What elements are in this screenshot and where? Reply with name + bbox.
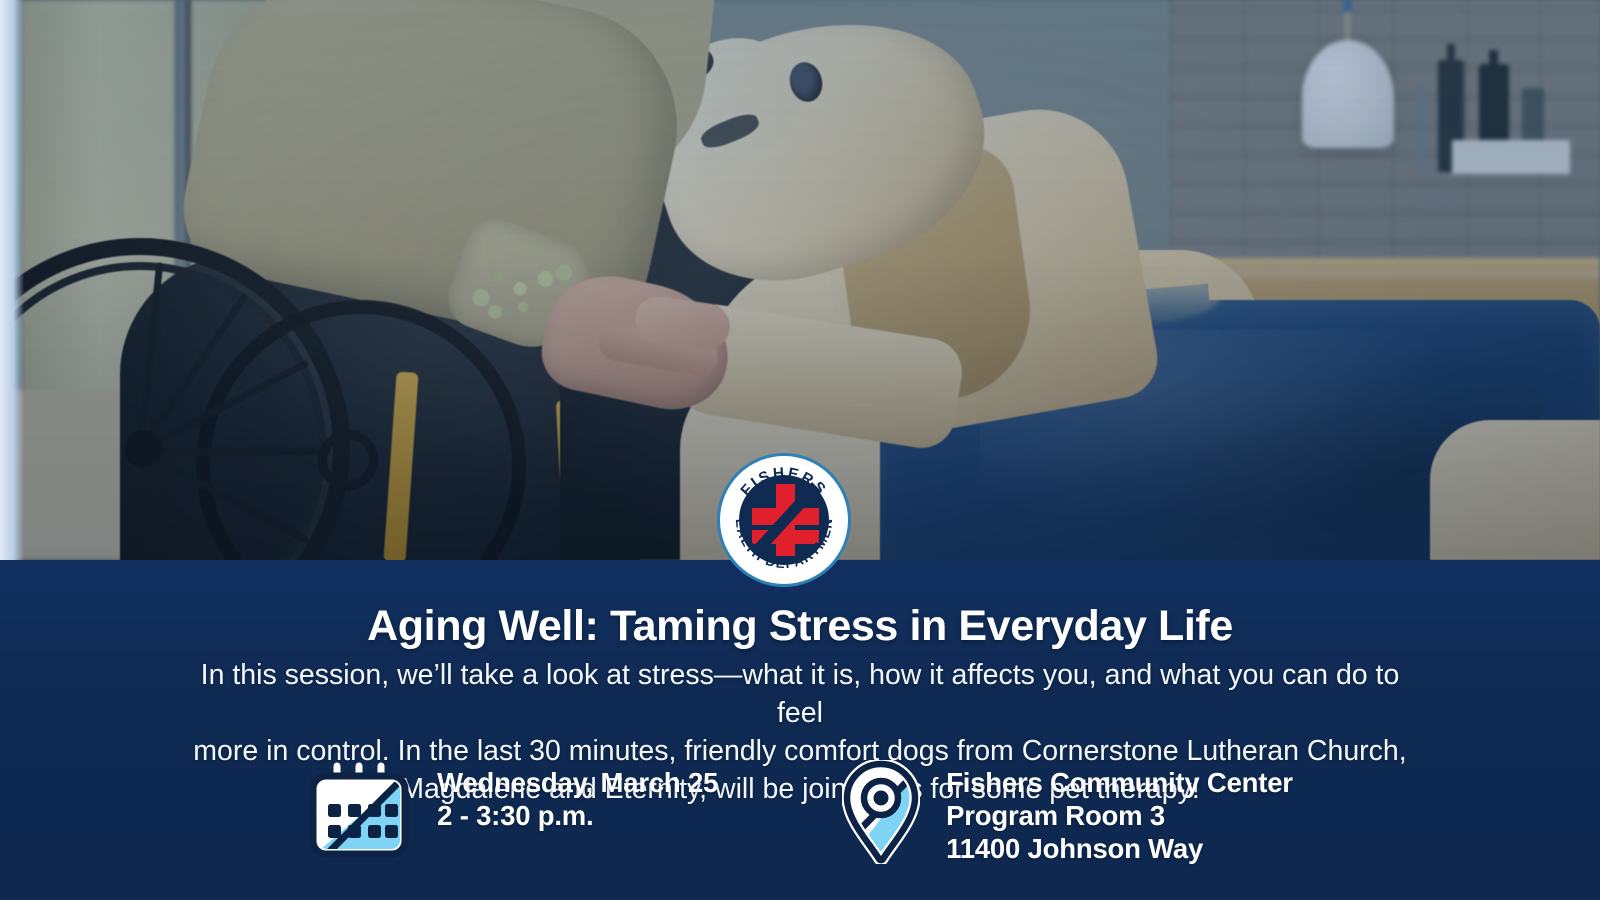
photo-left-edge-highlight bbox=[0, 0, 24, 560]
schedule-text: Wednesday, March 25 2 - 3:30 p.m. bbox=[437, 760, 718, 832]
page-title: Aging Well: Taming Stress in Everyday Li… bbox=[0, 602, 1600, 651]
event-details-row: Wednesday, March 25 2 - 3:30 p.m. bbox=[0, 760, 1600, 869]
street-address: 11400 Johnson Way bbox=[946, 832, 1293, 865]
room-name: Program Room 3 bbox=[946, 799, 1293, 832]
map-pin-icon bbox=[842, 760, 920, 869]
description-line: In this session, we’ll take a look at st… bbox=[188, 656, 1412, 732]
location-text: Fishers Community Center Program Room 3 … bbox=[946, 760, 1293, 865]
fishers-health-department-logo: FISHERS HEALTH DEPARTMENT bbox=[716, 452, 852, 588]
event-date: Wednesday, March 25 bbox=[437, 766, 718, 799]
schedule-block: Wednesday, March 25 2 - 3:30 p.m. bbox=[307, 760, 718, 863]
info-panel: Aging Well: Taming Stress in Everyday Li… bbox=[0, 560, 1600, 900]
event-flyer: FISHERS HEALTH DEPARTMENT Aging Well: Ta… bbox=[0, 0, 1600, 900]
event-time: 2 - 3:30 p.m. bbox=[437, 799, 718, 832]
location-block: Fishers Community Center Program Room 3 … bbox=[842, 760, 1293, 869]
calendar-icon bbox=[307, 760, 411, 863]
venue-name: Fishers Community Center bbox=[946, 766, 1293, 799]
